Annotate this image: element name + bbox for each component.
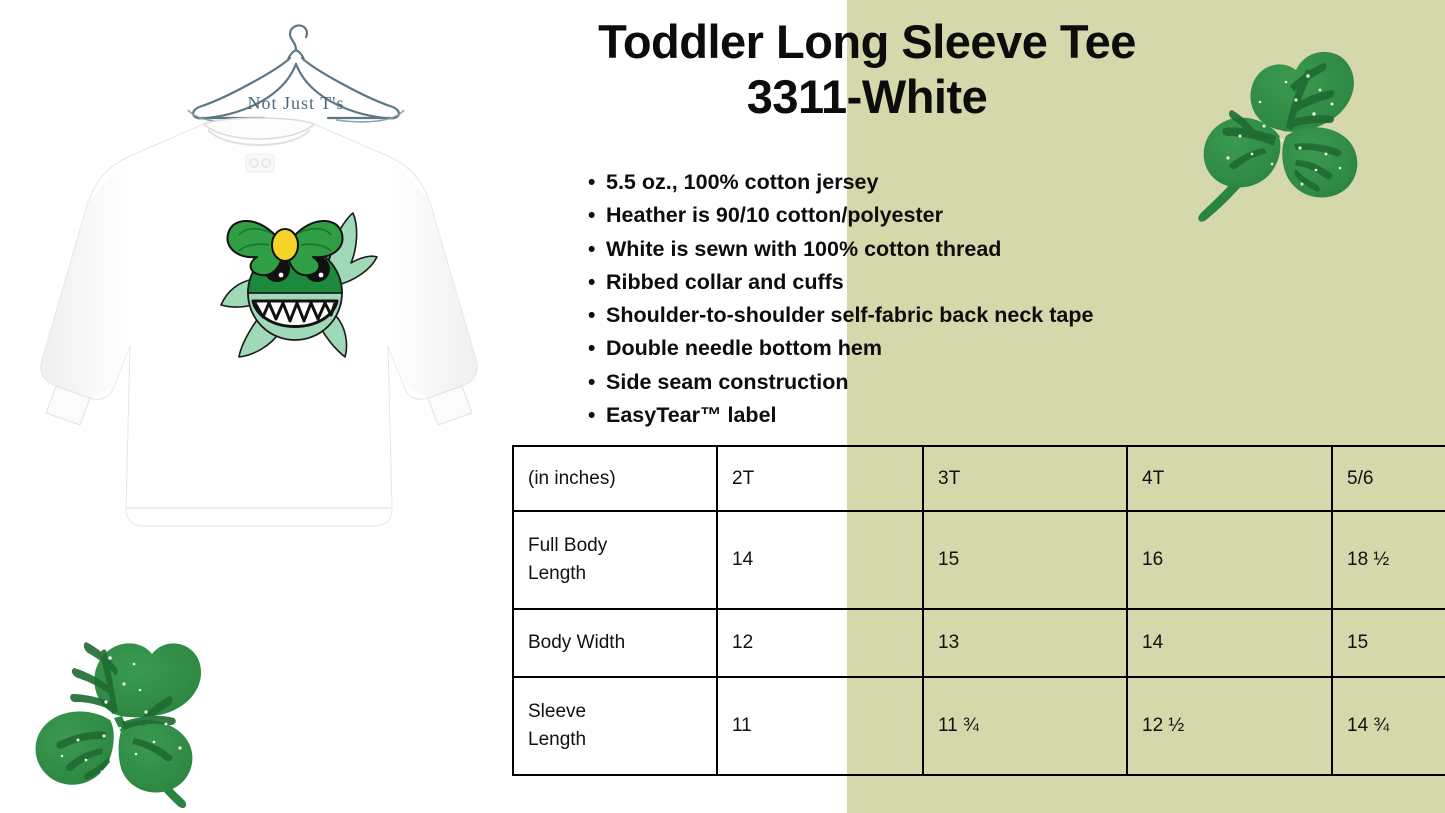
table-header-row: (in inches) 2T 3T 4T 5/6 bbox=[513, 446, 1445, 511]
feature-item: Ribbed collar and cuffs bbox=[588, 266, 1268, 299]
cell-value: 11 bbox=[717, 677, 923, 775]
product-features-list: 5.5 oz., 100% cotton jersey Heather is 9… bbox=[588, 166, 1268, 432]
cell-value: 12 ½ bbox=[1127, 677, 1332, 775]
neck-label bbox=[246, 154, 274, 172]
slide-canvas: Not Just T's bbox=[0, 0, 1445, 813]
cell-value: 15 bbox=[1332, 609, 1445, 677]
size-chart-table: (in inches) 2T 3T 4T 5/6 Full Body Lengt… bbox=[512, 445, 1445, 776]
feature-item: Shoulder-to-shoulder self-fabric back ne… bbox=[588, 299, 1268, 332]
cell-value: 15 bbox=[923, 511, 1127, 609]
cell-value: 14 bbox=[717, 511, 923, 609]
feature-item: EasyTear™ label bbox=[588, 399, 1268, 432]
feature-item: Double needle bottom hem bbox=[588, 332, 1268, 365]
cell-value: 18 ½ bbox=[1332, 511, 1445, 609]
title-line-2: 3311-White bbox=[512, 69, 1222, 124]
cell-value: 12 bbox=[717, 609, 923, 677]
feature-item: Heather is 90/10 cotton/polyester bbox=[588, 199, 1268, 232]
feature-item: White is sewn with 100% cotton thread bbox=[588, 233, 1268, 266]
shamrock-bottom-left-icon bbox=[8, 598, 238, 813]
feature-item: Side seam construction bbox=[588, 366, 1268, 399]
cell-value: 13 bbox=[923, 609, 1127, 677]
column-header-3t: 3T bbox=[923, 446, 1127, 511]
cell-value: 14 bbox=[1127, 609, 1332, 677]
column-header-4t: 4T bbox=[1127, 446, 1332, 511]
column-header-2t: 2T bbox=[717, 446, 923, 511]
column-header-5-6: 5/6 bbox=[1332, 446, 1445, 511]
row-label: Sleeve Length bbox=[513, 677, 717, 775]
cell-value: 11 ¾ bbox=[923, 677, 1127, 775]
table-row: Full Body Length 14 15 16 18 ½ bbox=[513, 511, 1445, 609]
page-title: Toddler Long Sleeve Tee 3311-White bbox=[512, 14, 1222, 125]
title-line-1: Toddler Long Sleeve Tee bbox=[598, 15, 1136, 68]
feature-item: 5.5 oz., 100% cotton jersey bbox=[588, 166, 1268, 199]
row-label: Full Body Length bbox=[513, 511, 717, 609]
green-shark-with-bow-graphic bbox=[213, 205, 383, 375]
table-row: Sleeve Length 11 11 ¾ 12 ½ 14 ¾ bbox=[513, 677, 1445, 775]
product-photo: Not Just T's bbox=[0, 0, 512, 560]
column-header-units: (in inches) bbox=[513, 446, 717, 511]
cell-value: 14 ¾ bbox=[1332, 677, 1445, 775]
table-row: Body Width 12 13 14 15 bbox=[513, 609, 1445, 677]
cell-value: 16 bbox=[1127, 511, 1332, 609]
row-label: Body Width bbox=[513, 609, 717, 677]
